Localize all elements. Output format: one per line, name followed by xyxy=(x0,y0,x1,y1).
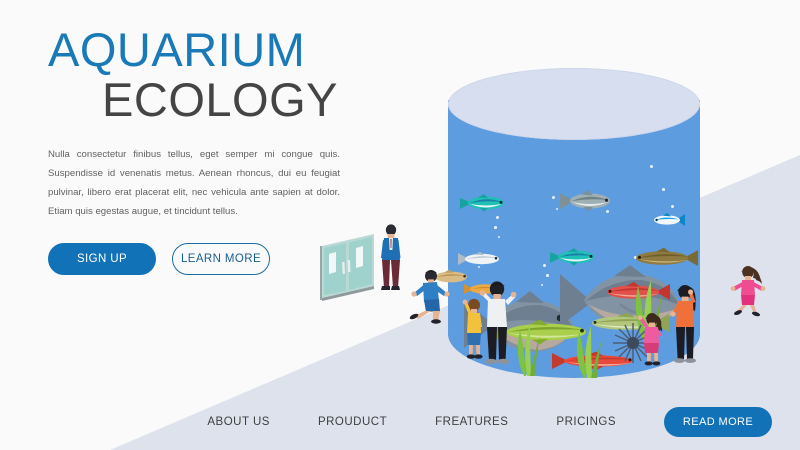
page-title-line2: ECOLOGY xyxy=(48,75,378,125)
running-boy-blue xyxy=(404,269,450,323)
bubble xyxy=(541,284,543,286)
nav-item-pricings[interactable]: PRICINGS xyxy=(556,416,616,428)
page-title-line1: AQUARIUM xyxy=(48,26,378,75)
bubble xyxy=(671,205,674,208)
bubble xyxy=(546,274,549,277)
learn-more-button[interactable]: LEARN MORE xyxy=(172,243,270,275)
read-more-button[interactable]: READ MORE xyxy=(664,407,772,437)
fish-olive-trout-right xyxy=(628,246,700,270)
bubble xyxy=(496,216,499,219)
woman-orange-top xyxy=(668,281,702,363)
fish-gray-tuna-upper-mid xyxy=(558,188,614,214)
bubble xyxy=(552,196,555,199)
sign-up-button[interactable]: SIGN UP xyxy=(48,243,156,275)
hero-copy-block: AQUARIUM ECOLOGY Nulla consectetur finib… xyxy=(48,26,378,275)
nav-item-prouduct[interactable]: PROUDUCT xyxy=(318,416,387,428)
girl-pink-dress xyxy=(637,309,667,365)
bubble xyxy=(543,264,546,267)
landing-page-stage: AQUARIUM ECOLOGY Nulla consectetur finib… xyxy=(0,0,800,450)
running-girl-pink xyxy=(727,264,769,316)
bubble xyxy=(498,236,500,238)
seaweed-mid xyxy=(568,324,606,383)
nav-item-about-us[interactable]: ABOUT US xyxy=(207,416,270,428)
nav-item-freatures[interactable]: FREATURES xyxy=(435,416,508,428)
fish-blue-minnow-upper-right xyxy=(651,212,687,228)
hero-button-row: SIGN UP LEARN MORE xyxy=(48,243,378,275)
hero-paragraph: Nulla consectetur finibus tellus, eget s… xyxy=(48,145,340,222)
tank-rim xyxy=(448,68,700,140)
fish-teal-mackerel-upper-left xyxy=(458,192,508,214)
bubble xyxy=(650,165,653,168)
bubble xyxy=(494,226,497,229)
man-white-shirt xyxy=(480,280,516,364)
bubble xyxy=(662,188,665,191)
fish-white-herring-left xyxy=(456,250,502,268)
bottom-navigation: ABOUT US PROUDUCT FREATURES PRICINGS REA… xyxy=(0,394,800,450)
visitor-man-in-suit xyxy=(378,224,404,290)
